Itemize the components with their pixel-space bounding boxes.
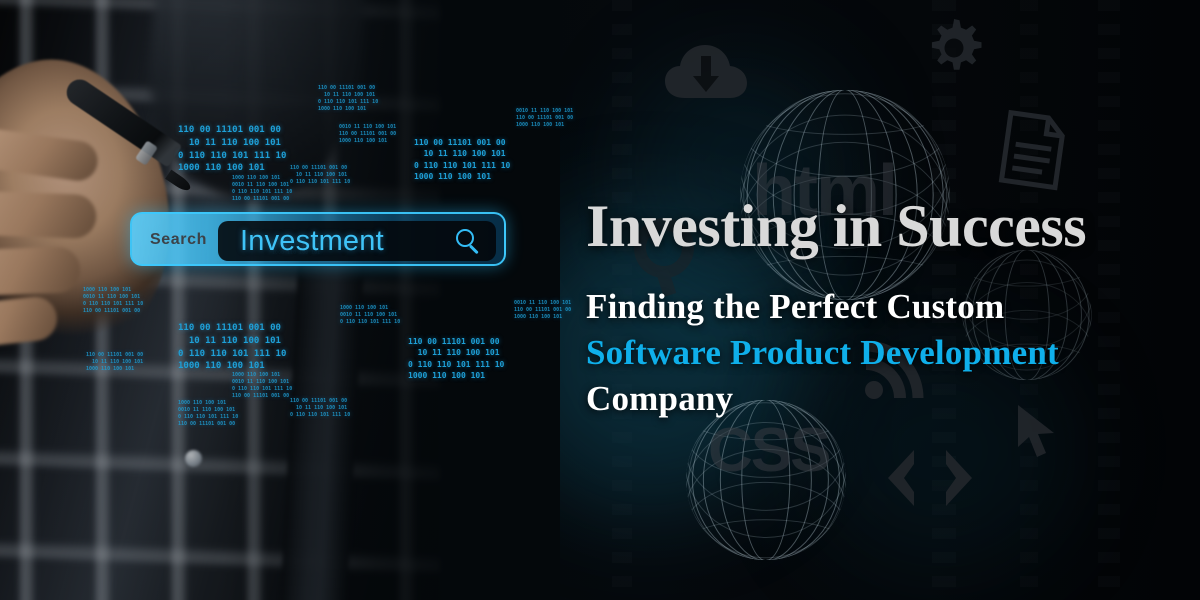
binary-code-block: 1000 110 100 101 0010 11 110 100 101 0 1… — [178, 400, 238, 428]
binary-code-block: 0010 11 110 100 101 110 00 11101 001 00 … — [516, 108, 573, 129]
server-rack-column — [1098, 0, 1120, 600]
page-title: Investing in Success — [586, 196, 1086, 256]
cloud-download-icon — [663, 42, 749, 106]
magnifier-handle — [469, 244, 479, 254]
subtitle-line-1: Finding the Perfect Custom — [586, 285, 1004, 330]
magnifier-icon[interactable] — [456, 229, 482, 255]
binary-code-block: 110 00 11101 001 00 10 11 110 100 101 0 … — [318, 85, 378, 113]
code-brackets-icon — [884, 442, 976, 514]
search-input-value: Investment — [240, 225, 384, 258]
subtitle-line-3: Company — [586, 377, 733, 422]
binary-code-block: 1000 110 100 101 0010 11 110 100 101 0 1… — [340, 305, 400, 326]
gear-icon — [923, 17, 985, 79]
hero-banner: html CSS — [0, 0, 1200, 600]
binary-code-block: 0010 11 110 100 101 110 00 11101 001 00 … — [339, 124, 396, 145]
search-input[interactable]: Investment — [218, 221, 496, 261]
binary-code-block: 110 00 11101 001 00 10 11 110 100 101 10… — [86, 352, 143, 373]
binary-code-block: 1000 110 100 101 0010 11 110 100 101 0 1… — [232, 372, 292, 400]
cursor-arrow-icon — [1014, 403, 1060, 463]
binary-code-block: 0010 11 110 100 101 110 00 11101 001 00 … — [514, 300, 571, 321]
binary-code-block: 110 00 11101 001 00 10 11 110 100 101 0 … — [408, 336, 504, 381]
search-bar[interactable]: Search Investment — [130, 212, 506, 266]
binary-code-block: 110 00 11101 001 00 10 11 110 100 101 0 … — [178, 322, 286, 373]
binary-code-block: 110 00 11101 001 00 10 11 110 100 101 0 … — [178, 124, 286, 175]
document-icon — [995, 108, 1069, 192]
binary-code-block: 1000 110 100 101 0010 11 110 100 101 0 1… — [232, 175, 292, 203]
globe-css-label: CSS — [708, 415, 829, 486]
binary-code-block: 110 00 11101 001 00 10 11 110 100 101 0 … — [290, 165, 350, 186]
subtitle-line-2: Software Product Development — [586, 331, 1059, 376]
binary-code-block: 110 00 11101 001 00 10 11 110 100 101 0 … — [414, 137, 510, 182]
binary-code-block: 110 00 11101 001 00 10 11 110 100 101 0 … — [290, 398, 350, 419]
search-label: Search — [150, 231, 207, 249]
binary-code-block: 1000 110 100 101 0010 11 110 100 101 0 1… — [83, 287, 143, 315]
